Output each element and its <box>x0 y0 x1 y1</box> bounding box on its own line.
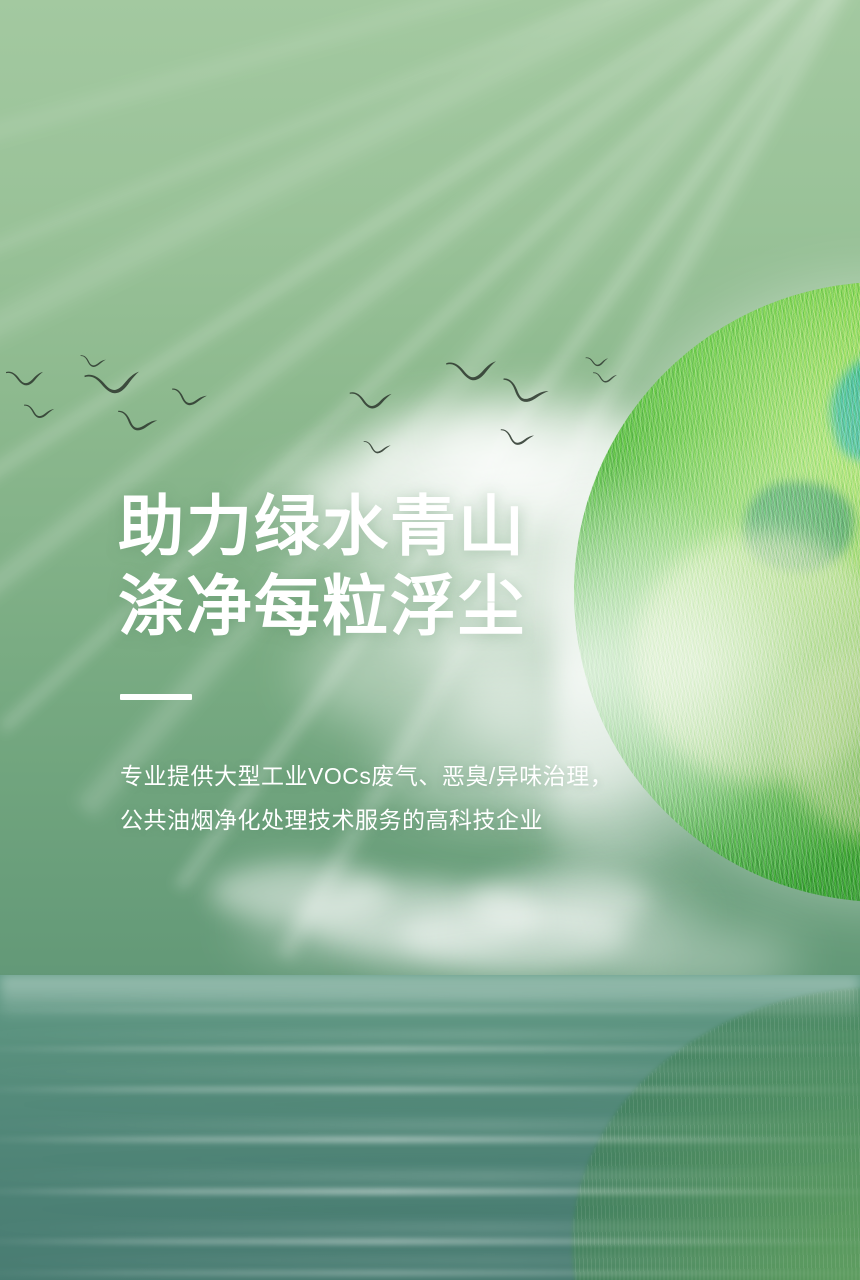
headline-line-1: 助力绿水青山 <box>118 486 678 566</box>
water-ripple <box>0 1271 860 1275</box>
water-ripple <box>0 1257 860 1264</box>
water-ripple <box>0 1031 860 1038</box>
water-ripple <box>0 1121 860 1129</box>
water-ripple <box>0 1189 860 1194</box>
water-ripple <box>0 1103 860 1106</box>
divider-rule <box>120 694 192 700</box>
water-ripple <box>0 1137 860 1142</box>
poster-canvas: 助力绿水青山 涤净每粒浮尘 专业提供大型工业VOCs废气、恶臭/异味治理， 公共… <box>0 0 860 1280</box>
water-ripple <box>0 1239 860 1244</box>
water-ripple <box>0 1009 860 1012</box>
water-ripple <box>0 993 860 998</box>
water-surface <box>0 975 860 1280</box>
headline-line-2: 涤净每粒浮尘 <box>118 566 678 646</box>
water-ripple <box>0 1207 860 1211</box>
water-ripple <box>0 1157 860 1161</box>
hero-text-block: 助力绿水青山 涤净每粒浮尘 专业提供大型工业VOCs废气、恶臭/异味治理， 公共… <box>118 486 678 840</box>
water-ripple <box>0 1067 860 1076</box>
water-ripple <box>0 1047 860 1051</box>
water-ripple <box>0 1223 860 1232</box>
subtitle-line-1: 专业提供大型工业VOCs废气、恶臭/异味治理， <box>120 756 678 796</box>
water-ripple <box>0 1171 860 1181</box>
water-ripple-group <box>0 975 860 1280</box>
water-ripple <box>0 1087 860 1092</box>
subtitle-line-2: 公共油烟净化处理技术服务的高科技企业 <box>120 800 678 840</box>
